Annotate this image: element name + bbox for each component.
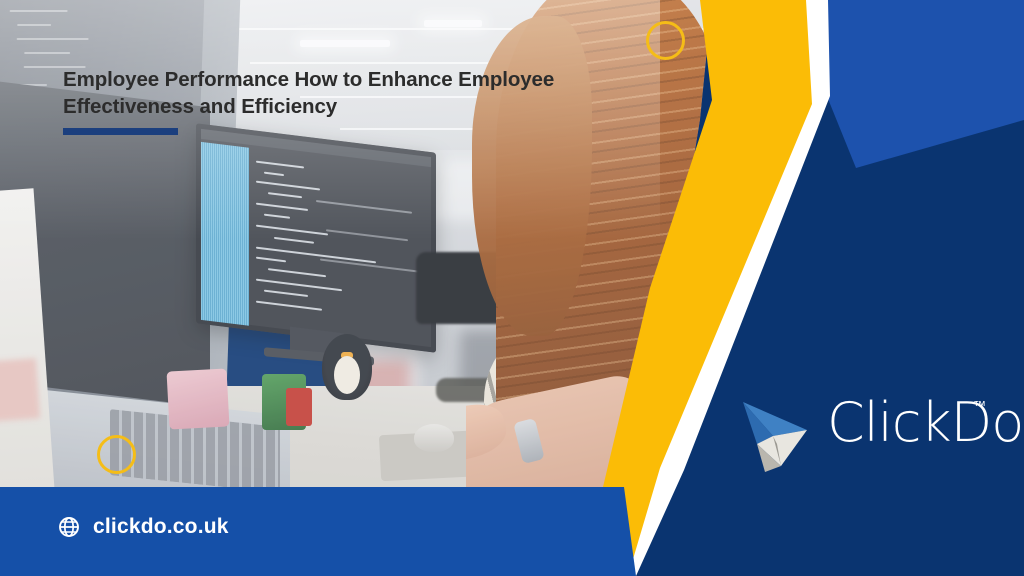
yellow-ring-outline-icon	[646, 21, 685, 60]
title-line-1: Employee Performance How to Enhance Empl…	[63, 66, 663, 93]
page-title: Employee Performance How to Enhance Empl…	[63, 66, 663, 121]
logo-trademark: ™	[973, 398, 986, 413]
title-line-2: Effectiveness and Efficiency	[63, 93, 663, 120]
yellow-ring-outline-icon	[97, 435, 136, 474]
clickdo-arrow-mark-icon	[735, 392, 825, 478]
ceiling-light	[868, 58, 942, 65]
globe-icon	[58, 516, 80, 538]
footer-url-row[interactable]: clickdo.co.uk	[58, 515, 229, 539]
website-url-text: clickdo.co.uk	[93, 515, 229, 539]
banner-canvas: Employee Performance How to Enhance Empl…	[0, 0, 1024, 576]
ceiling-light	[834, 14, 930, 23]
logo-wordmark: ClickDo	[827, 396, 1023, 450]
title-underline-rule	[63, 128, 178, 135]
clickdo-logo[interactable]: ClickDo ™	[735, 392, 1005, 478]
